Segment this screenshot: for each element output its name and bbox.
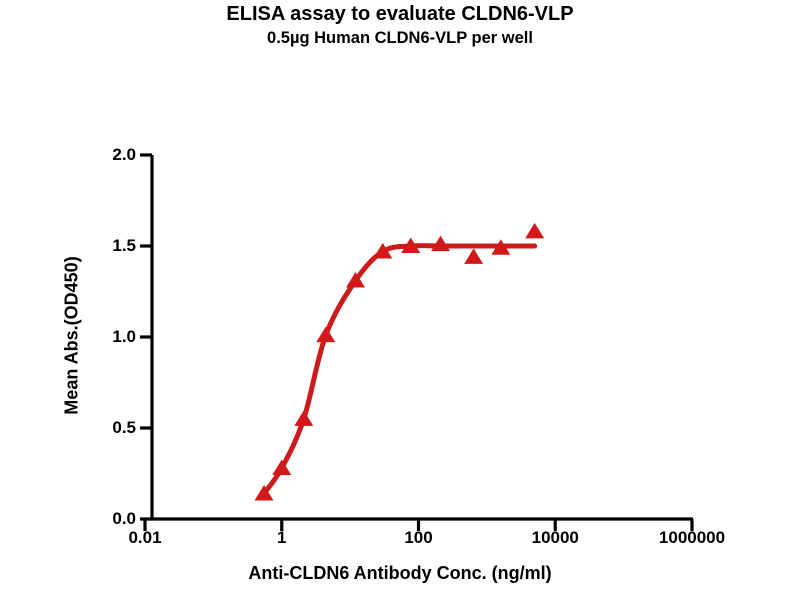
x-tick-label: 1	[212, 528, 352, 548]
x-tick-labels: 0.011100100001000000	[0, 0, 800, 600]
x-axis-title: Anti-CLDN6 Antibody Conc. (ng/ml)	[0, 563, 800, 584]
x-tick-label: 1000000	[622, 528, 762, 548]
chart-figure: ELISA assay to evaluate CLDN6-VLP 0.5µg …	[0, 0, 800, 600]
x-tick-label: 10000	[485, 528, 625, 548]
x-tick-label: 0.01	[75, 528, 215, 548]
y-axis-title: Mean Abs.(OD450)	[62, 206, 83, 466]
x-tick-label: 100	[349, 528, 489, 548]
